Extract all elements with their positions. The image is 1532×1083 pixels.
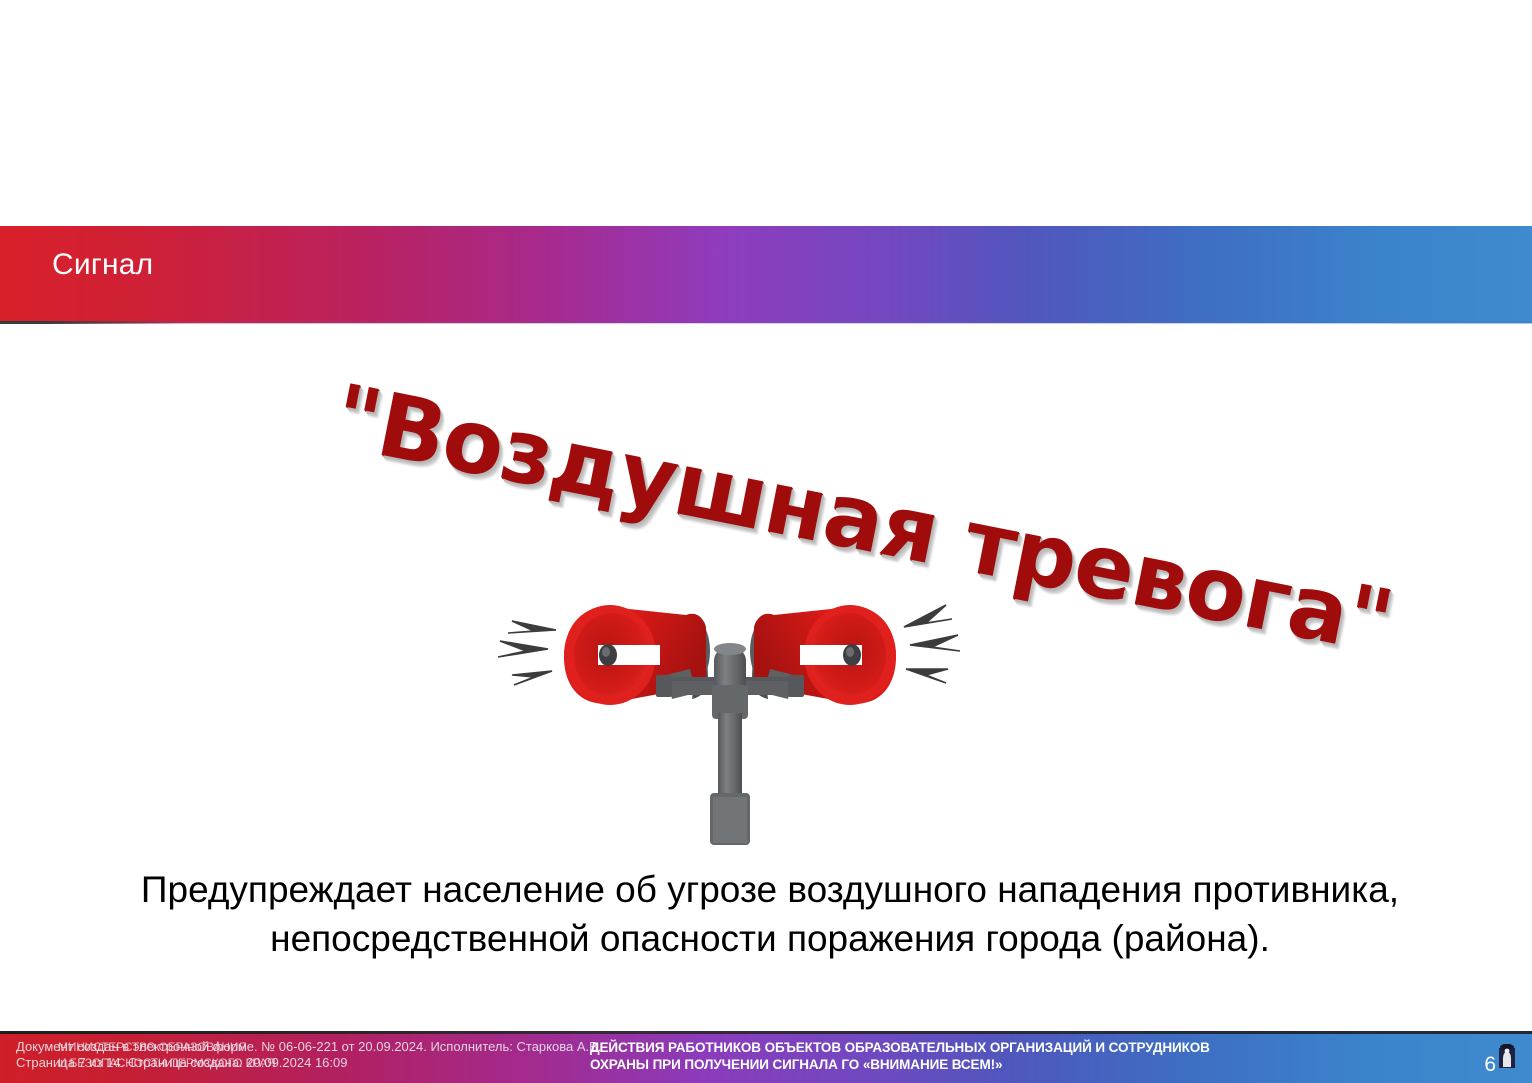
footer-banner: МИНИСТЕРСТВО ОБРАЗОВАНИЯ И БЕЗОПАСНОСТИ … [0,1031,1532,1083]
presenter-badge-icon [1498,1043,1516,1069]
footer-running-title: ДЕЙСТВИЯ РАБОТНИКОВ ОБЪЕКТОВ ОБРАЗОВАТЕЛ… [590,1039,1420,1073]
siren-illustration [490,565,970,855]
header-banner [0,226,1532,323]
footer-title-line-1: ДЕЙСТВИЯ РАБОТНИКОВ ОБЪЕКТОВ ОБРАЗОВАТЕЛ… [590,1039,1420,1056]
signature-stamp-line-1: Документ создан в электронной форме. № 0… [16,1039,601,1055]
footer-top-divider [0,1031,1532,1034]
page-number: 6 [1484,1053,1496,1077]
body-line-2: непосредственной опасности поражения гор… [80,915,1460,964]
sound-wave-left-icon [498,621,556,685]
signature-stamp-line-2: Страница 7 из 14. Страница создана: 20.0… [16,1055,601,1071]
body-line-1: Предупреждает население об угрозе воздуш… [80,866,1460,915]
page-title: Сигнал [52,248,153,282]
slide-canvas: Сигнал "Воздушная тревога" [0,0,1532,1083]
electronic-signature-stamp: Документ создан в электронной форме. № 0… [16,1039,601,1071]
body-paragraph: Предупреждает население об угрозе воздуш… [80,866,1460,964]
header-underline-divider [0,321,1532,324]
siren-pole [710,643,750,845]
sound-wave-right-icon [904,605,960,683]
footer-title-line-2: ОХРАНЫ ПРИ ПОЛУЧЕНИИ СИГНАЛА ГО «ВНИМАНИ… [590,1056,1420,1073]
wordart-title-group: "Воздушная тревога" [330,338,1200,548]
